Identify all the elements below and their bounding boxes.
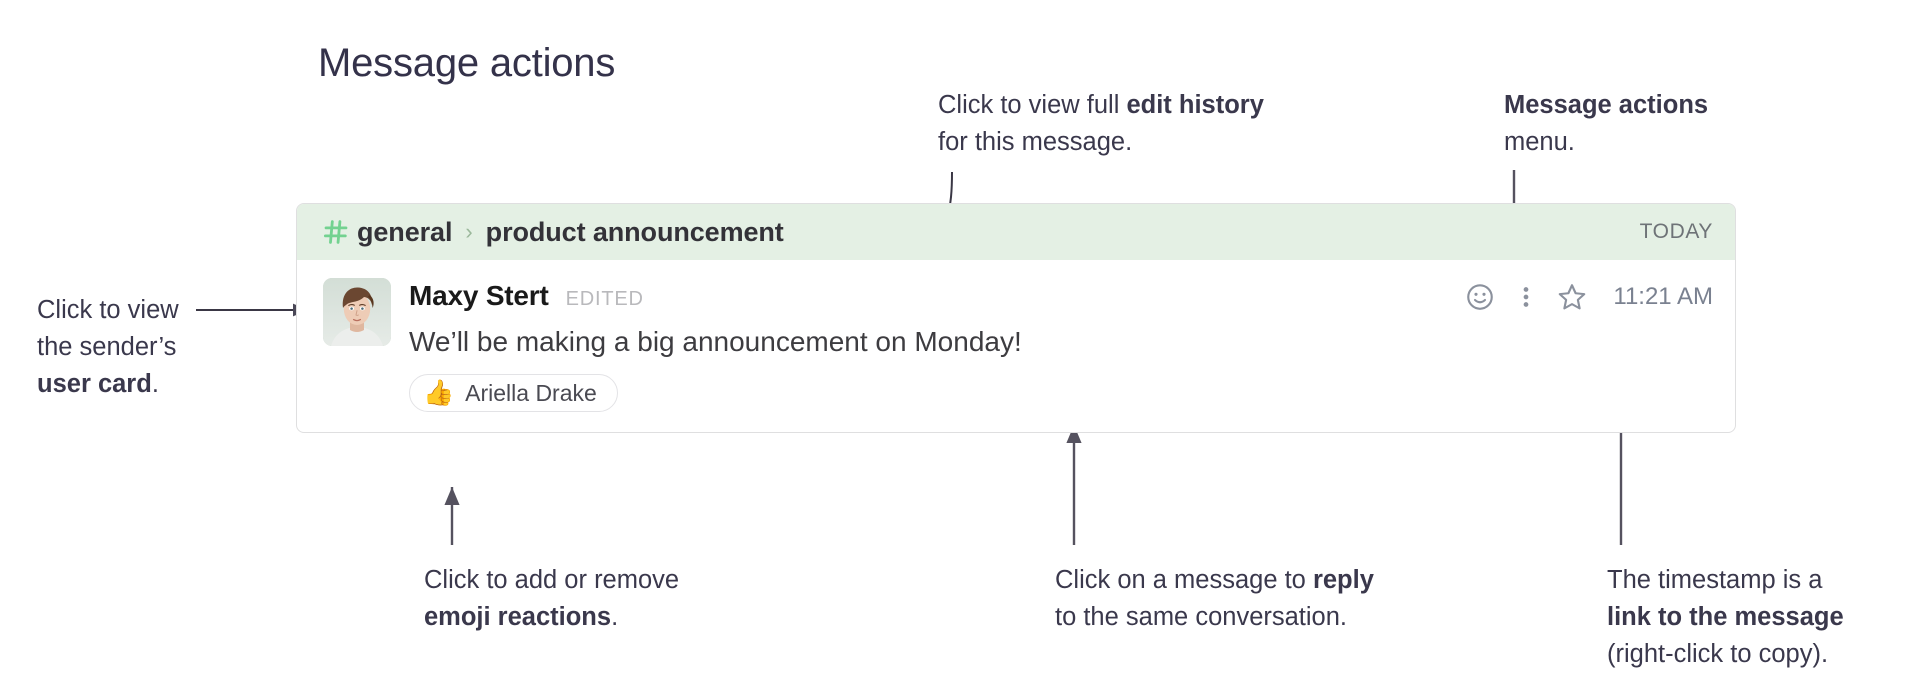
page-title: Message actions [318,41,615,86]
annotation-message-actions-menu: Message actions menu. [1504,87,1708,161]
annotation-timestamp: The timestamp is a link to the message (… [1607,562,1844,673]
annotation-text: . [152,370,159,398]
breadcrumb-separator-icon: › [465,221,472,243]
message-content: Maxy Stert EDITED We’ll be making a big … [409,278,1439,412]
breadcrumb-stream[interactable]: general [357,217,452,248]
breadcrumb-topic[interactable]: product announcement [486,217,784,248]
message-card: general › product announcement TODAY [296,203,1736,433]
annotation-reply: Click on a message to reply to the same … [1055,562,1374,636]
annotation-reactions-line2: emoji reactions. [424,599,679,636]
annotation-timestamp-line3: (right-click to copy). [1607,636,1844,673]
sender-line: Maxy Stert EDITED [409,280,1439,314]
thumbs-up-emoji: 👍 [423,381,454,406]
avatar[interactable] [323,278,391,346]
annotation-edit-history-line1: Click to view full edit history [938,87,1264,124]
annotation-emphasis: link to the message [1607,603,1844,631]
annotation-timestamp-line2: link to the message [1607,599,1844,636]
sender-name[interactable]: Maxy Stert [409,280,549,312]
annotation-text: Click on a message to [1055,566,1313,594]
annotation-edit-history: Click to view full edit history for this… [938,87,1264,161]
reaction-label: Ariella Drake [465,380,597,407]
star-outline-icon[interactable] [1557,282,1587,312]
ellipsis-vertical-icon[interactable] [1521,282,1531,312]
annotation-emphasis: user card [37,370,152,398]
emoji-reaction-icon[interactable] [1465,282,1495,312]
annotation-reactions-line1: Click to add or remove [424,562,679,599]
annotation-user-card: Click to view the sender’s user card. [37,292,179,403]
reactions-row: 👍 Ariella Drake [409,374,1439,412]
date-label: TODAY [1640,220,1713,244]
annotation-reply-line1: Click on a message to reply [1055,562,1374,599]
annotation-user-card-line1: Click to view [37,292,179,329]
message-timestamp[interactable]: 11:21 AM [1613,282,1713,312]
annotation-emphasis: edit history [1126,91,1263,119]
annotation-edit-history-line2: for this message. [938,124,1264,161]
annotation-emoji-reactions: Click to add or remove emoji reactions. [424,562,679,636]
annotation-reply-line2: to the same conversation. [1055,599,1374,636]
annotation-text: Click to view full [938,91,1126,119]
recipient-bar[interactable]: general › product announcement TODAY [297,204,1735,260]
reaction-pill[interactable]: 👍 Ariella Drake [409,374,618,412]
annotation-menu-line2: menu. [1504,124,1708,161]
annotation-emphasis: reply [1313,566,1374,594]
annotation-user-card-line3: user card. [37,366,179,403]
annotation-emphasis: emoji reactions [424,603,611,631]
annotation-timestamp-line1: The timestamp is a [1607,562,1844,599]
annotation-emphasis: Message actions [1504,91,1708,119]
annotation-text: . [611,603,618,631]
hash-icon [323,219,349,245]
annotation-menu-line1: Message actions [1504,87,1708,124]
message-actions-group: 11:21 AM [1439,278,1713,412]
message-body[interactable]: We’ll be making a big announcement on Mo… [409,324,1439,360]
edited-label[interactable]: EDITED [566,288,644,311]
annotation-user-card-line2: the sender’s [37,329,179,366]
message-row[interactable]: Maxy Stert EDITED We’ll be making a big … [297,260,1735,432]
